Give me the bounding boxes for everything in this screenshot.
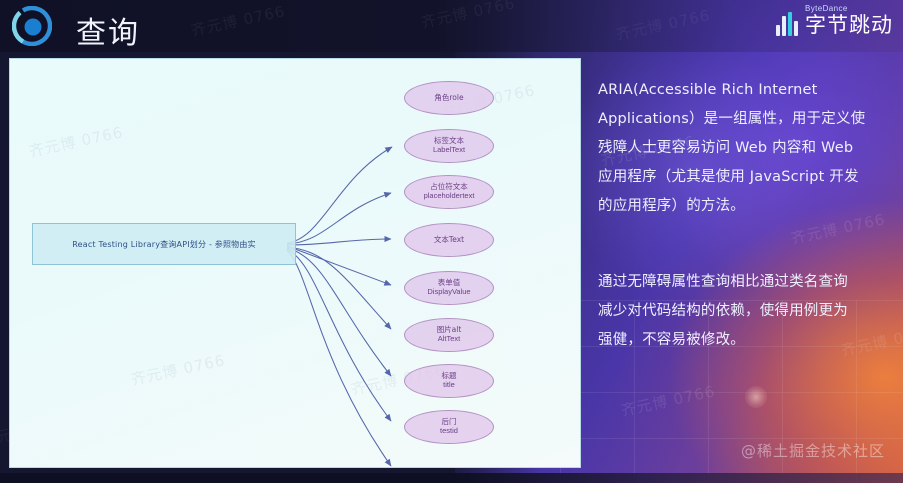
paragraph-line: 应用程序（尤其是使用 JavaScript 开发 [598, 163, 896, 192]
diagram-center-node: React Testing Library查询API划分 - 参照物由实 [32, 223, 296, 265]
diagram-node-text: 文本Text [404, 223, 494, 257]
slide-root: 齐元博 0766 齐元博 0766 齐元博 0766 齐元博 0766 齐元博 … [0, 0, 903, 483]
node-label-en: DisplayValue [427, 288, 470, 297]
paragraph-line: 的应用程序）的方法。 [598, 192, 896, 221]
diagram-node-title: 标题 title [404, 364, 494, 398]
node-label-en: placeholdertext [424, 192, 475, 201]
diagram-center-node-label: React Testing Library查询API划分 - 参照物由实 [72, 239, 256, 250]
brand-name-en: ByteDance [805, 5, 893, 13]
node-label-en: LabelText [433, 146, 465, 155]
brand-name-cn: 字节跳动 [805, 15, 893, 36]
node-label-cn: 文本Text [434, 236, 464, 245]
paragraph-aria-definition: ARIA(Accessible Rich Internet Applicatio… [598, 76, 896, 221]
paragraph-line: 残障人士更容易访问 Web 内容和 Web [598, 134, 896, 163]
diagram-node-testid: 后门 testid [404, 410, 494, 444]
node-label-en: title [443, 381, 455, 390]
paragraph-benefits: 通过无障碍属性查询相比通过类名查询 减少对代码结构的依赖，使得用例更为 强健，不… [598, 268, 896, 355]
diagram-node-labeltext: 标签文本 LabelText [404, 129, 494, 163]
diagram-node-placeholdertext: 占位符文本 placeholdertext [404, 175, 494, 209]
bytedance-bars-icon [776, 12, 798, 36]
juejin-circle-logo-icon [12, 6, 52, 46]
node-label-en: testid [440, 427, 458, 436]
paragraph-line: 强健，不容易被修改。 [598, 326, 896, 355]
diagram-panel: 齐元博 0766 齐元博 0766 齐元博 0766 齐元博 0766 [9, 58, 581, 468]
background-dot [745, 386, 767, 408]
node-label-cn: 角色role [434, 94, 463, 103]
community-credit: @稀土掘金技术社区 [741, 440, 885, 461]
paragraph-line: Applications）是一组属性，用于定义使 [598, 105, 896, 134]
diagram-node-role: 角色role [404, 81, 494, 115]
page-title: 查询 [76, 8, 140, 52]
paragraph-line: 通过无障碍属性查询相比通过类名查询 [598, 268, 896, 297]
footer-strip [0, 473, 903, 483]
paragraph-line: ARIA(Accessible Rich Internet [598, 76, 896, 105]
paragraph-line: 减少对代码结构的依赖，使得用例更为 [598, 297, 896, 326]
diagram-node-alttext: 图片alt AltText [404, 318, 494, 352]
bytedance-brand: ByteDance 字节跳动 [776, 5, 893, 36]
node-label-en: AltText [438, 335, 461, 344]
diagram-node-displayvalue: 表单值 DisplayValue [404, 271, 494, 305]
